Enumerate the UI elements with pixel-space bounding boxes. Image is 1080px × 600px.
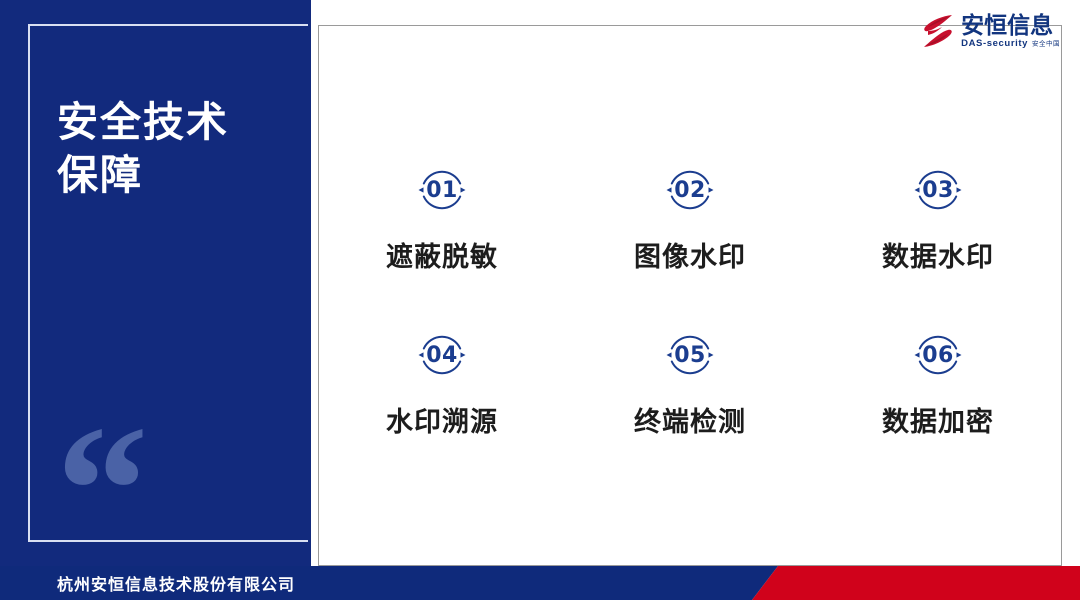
feature-item-02[interactable]: 02 图像水印 [566, 140, 814, 305]
feature-item-03[interactable]: 03 数据水印 [814, 140, 1062, 305]
das-security-swoosh-icon [921, 13, 955, 49]
number-badge-ring-icon: 06 [910, 327, 966, 383]
number-badge-ring-icon: 05 [662, 327, 718, 383]
logo-text-block: 安恒信息 DAS-security 安全中国 [961, 13, 1060, 49]
feature-number: 01 [426, 178, 458, 203]
feature-label: 数据加密 [882, 400, 994, 439]
logo-subtitle-latin: DAS-security [961, 39, 1028, 49]
slide-root: 安全技术 保障 “ 安恒信息 DAS-security 安全中国 [0, 0, 1080, 600]
logo-subtitle-row: DAS-security 安全中国 [961, 39, 1060, 49]
feature-number: 02 [674, 178, 706, 203]
feature-item-06[interactable]: 06 数据加密 [814, 305, 1062, 470]
number-badge-ring-icon: 01 [414, 162, 470, 218]
feature-number: 06 [922, 343, 954, 368]
feature-number: 03 [922, 178, 954, 203]
logo-wordmark: 安恒信息 [961, 13, 1060, 37]
feature-label: 水印溯源 [386, 400, 498, 439]
feature-label: 终端检测 [634, 400, 746, 439]
feature-number: 05 [674, 343, 706, 368]
feature-item-05[interactable]: 05 终端检测 [566, 305, 814, 470]
feature-item-01[interactable]: 01 遮蔽脱敏 [318, 140, 566, 305]
page-title: 安全技术 保障 [57, 96, 307, 203]
logo-subtitle-chinese: 安全中国 [1032, 42, 1060, 49]
feature-item-04[interactable]: 04 水印溯源 [318, 305, 566, 470]
feature-grid: 01 遮蔽脱敏 02 图像水印 [318, 140, 1062, 470]
left-title-panel: 安全技术 保障 “ [0, 0, 311, 566]
feature-label: 遮蔽脱敏 [386, 235, 498, 274]
feature-label: 图像水印 [634, 235, 746, 274]
brand-logo: 安恒信息 DAS-security 安全中国 [921, 13, 1060, 49]
footer-company-name: 杭州安恒信息技术股份有限公司 [57, 566, 295, 600]
number-badge-ring-icon: 04 [414, 327, 470, 383]
quote-mark-icon: “ [56, 398, 149, 583]
number-badge-ring-icon: 02 [662, 162, 718, 218]
feature-number: 04 [426, 343, 458, 368]
number-badge-ring-icon: 03 [910, 162, 966, 218]
feature-label: 数据水印 [882, 235, 994, 274]
